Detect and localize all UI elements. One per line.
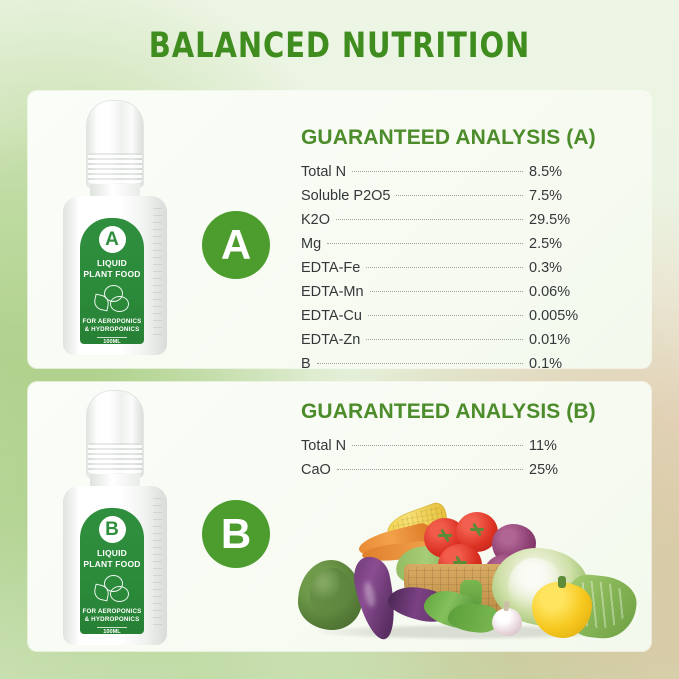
- analysis-row: Mg 2.5%: [301, 232, 601, 256]
- nutrient-value: 0.01%: [529, 328, 601, 352]
- bottle-b: B LIQUID PLANT FOOD FOR AEROPONICS & HYD…: [60, 390, 170, 645]
- label-product-name: LIQUID PLANT FOOD: [80, 258, 144, 280]
- vegetable-illustration-icon: [92, 284, 132, 314]
- leader-dots: [317, 363, 523, 364]
- label-name-line2: PLANT FOOD: [80, 559, 144, 570]
- cucumber-outline-icon: [110, 586, 129, 602]
- analysis-row: Soluble P2O5 7.5%: [301, 184, 601, 208]
- label-usage-line1: FOR AEROPONICS: [80, 608, 144, 616]
- nutrient-name: Soluble P2O5: [301, 184, 390, 208]
- leader-dots: [337, 469, 523, 470]
- vegetables-photo: [296, 492, 636, 650]
- infographic-canvas: BALANCED NUTRITION A LIQUID PLANT FOOD F…: [0, 0, 679, 679]
- leader-dots: [368, 315, 523, 316]
- broccoli-image: [298, 560, 362, 630]
- label-name-line1: LIQUID: [80, 548, 144, 559]
- measuring-strip-icon: [153, 208, 162, 338]
- nutrient-name: CaO: [301, 458, 331, 482]
- nutrient-value: 0.3%: [529, 256, 601, 280]
- label-product-name: LIQUID PLANT FOOD: [80, 548, 144, 570]
- nutrient-value: 29.5%: [529, 208, 601, 232]
- leader-dots: [352, 445, 523, 446]
- analysis-row: EDTA-Zn 0.01%: [301, 328, 601, 352]
- leader-dots: [370, 291, 523, 292]
- tomato-stem-icon: [470, 524, 484, 536]
- nutrient-name: K2O: [301, 208, 330, 232]
- nutrient-value: 7.5%: [529, 184, 601, 208]
- nutrient-name: Mg: [301, 232, 321, 256]
- bottle-cap-icon: [86, 100, 144, 188]
- tomato-stem-icon: [438, 530, 452, 542]
- analysis-row: Total N 8.5%: [301, 160, 601, 184]
- nutrient-value: 0.06%: [529, 280, 601, 304]
- nutrient-value: 2.5%: [529, 232, 601, 256]
- label-usage-line2: & HYDROPONICS: [80, 326, 144, 334]
- label-volume: 100ML: [97, 627, 127, 637]
- nutrient-name: B: [301, 352, 311, 376]
- leader-dots: [336, 219, 523, 220]
- label-usage: FOR AEROPONICS & HYDROPONICS: [80, 608, 144, 624]
- label-usage-line1: FOR AEROPONICS: [80, 318, 144, 326]
- label-name-line1: LIQUID: [80, 258, 144, 269]
- label-name-line2: PLANT FOOD: [80, 269, 144, 280]
- leader-dots: [366, 339, 523, 340]
- vegetable-illustration-icon: [92, 574, 132, 604]
- label-badge-letter: B: [99, 516, 126, 543]
- label-volume: 100ML: [97, 337, 127, 347]
- nutrient-value: 0.005%: [529, 304, 601, 328]
- badge-circle-b: B: [202, 500, 270, 568]
- label-badge-letter: A: [99, 226, 126, 253]
- analysis-heading-a: GUARANTEED ANALYSIS (A): [301, 126, 621, 150]
- analysis-row: K2O 29.5%: [301, 208, 601, 232]
- nutrient-name: Total N: [301, 434, 346, 458]
- nutrient-value: 25%: [529, 458, 601, 482]
- analysis-row: EDTA-Mn 0.06%: [301, 280, 601, 304]
- measuring-strip-icon: [153, 498, 162, 628]
- nutrient-name: EDTA-Fe: [301, 256, 360, 280]
- page-title: BALANCED NUTRITION: [27, 26, 652, 66]
- analysis-row: EDTA-Cu 0.005%: [301, 304, 601, 328]
- garlic-image: [492, 608, 522, 636]
- bottle-label-a: A LIQUID PLANT FOOD FOR AEROPONICS & HYD…: [80, 218, 144, 344]
- nutrient-value: 0.1%: [529, 352, 601, 376]
- nutrient-value: 8.5%: [529, 160, 601, 184]
- analysis-section-b: GUARANTEED ANALYSIS (B) Total N 11% CaO …: [301, 400, 621, 482]
- nutrient-name: Total N: [301, 160, 346, 184]
- label-usage-line2: & HYDROPONICS: [80, 616, 144, 624]
- analysis-row: CaO 25%: [301, 458, 601, 482]
- leader-dots: [352, 171, 523, 172]
- leader-dots: [396, 195, 523, 196]
- badge-circle-a: A: [202, 211, 270, 279]
- bottle-label-b: B LIQUID PLANT FOOD FOR AEROPONICS & HYD…: [80, 508, 144, 634]
- nutrient-value: 11%: [529, 434, 601, 458]
- analysis-row: EDTA-Fe 0.3%: [301, 256, 601, 280]
- label-usage: FOR AEROPONICS & HYDROPONICS: [80, 318, 144, 334]
- bottle-cap-icon: [86, 390, 144, 478]
- cucumber-outline-icon: [110, 296, 129, 312]
- analysis-section-a: GUARANTEED ANALYSIS (A) Total N 8.5% Sol…: [301, 126, 621, 376]
- nutrient-name: EDTA-Cu: [301, 304, 362, 328]
- bottle-a: A LIQUID PLANT FOOD FOR AEROPONICS & HYD…: [60, 100, 170, 355]
- nutrient-name: EDTA-Mn: [301, 280, 364, 304]
- leader-dots: [366, 267, 523, 268]
- analysis-row: B 0.1%: [301, 352, 601, 376]
- analysis-row: Total N 11%: [301, 434, 601, 458]
- leader-dots: [327, 243, 523, 244]
- nutrient-name: EDTA-Zn: [301, 328, 360, 352]
- analysis-heading-b: GUARANTEED ANALYSIS (B): [301, 400, 621, 424]
